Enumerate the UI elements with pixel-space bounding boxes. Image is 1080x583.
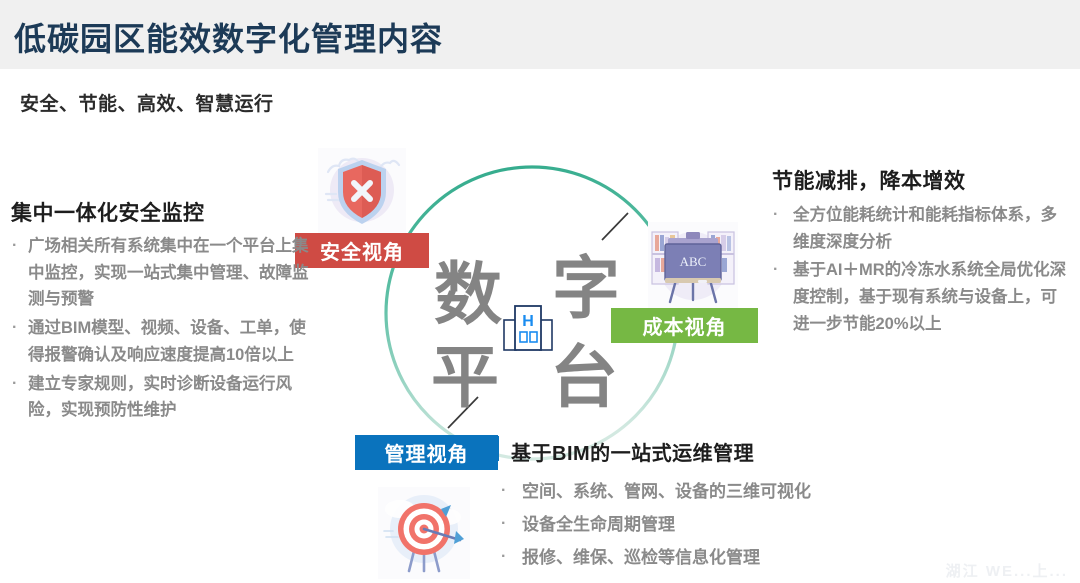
list-item: · 通过BIM模型、视频、设备、工单，使得报警确认及响应速度提高10倍以上 (11, 315, 311, 368)
left-column-bullets: · 广场相关所有系统集中在一个平台上集中监控，实现一站式集中管理、故障监测与预警… (11, 233, 311, 424)
target-arrow-icon (378, 487, 470, 579)
subtitle: 安全、节能、高效、智慧运行 (20, 89, 274, 116)
bullet-dot-icon: · (501, 541, 506, 572)
list-item-text: 建立专家规则，实时诊断设备运行风险，实现预防性维护 (28, 375, 292, 420)
bullet-dot-icon: · (501, 508, 506, 539)
right-column: 节能减排，降本增效 · 全方位能耗统计和能耗指标体系，多维度深度分析 · 基于A… (772, 165, 1072, 340)
platform-char-4: 台 (550, 345, 618, 413)
list-item-text: 通过BIM模型、视频、设备、工单，使得报警确认及响应速度提高10倍以上 (28, 319, 306, 364)
bottom-column-bullets: · 空间、系统、管网、设备的三维可视化 · 设备全生命周期管理 · 报修、维保、… (500, 475, 900, 574)
bullet-dot-icon: · (12, 315, 17, 341)
list-item-text: 设备全生命周期管理 (522, 515, 675, 534)
blackboard-abc-icon: ABC (648, 222, 738, 310)
list-item: · 全方位能耗统计和能耗指标体系，多维度深度分析 (772, 202, 1072, 255)
bullet-dot-icon: · (773, 202, 778, 228)
platform-char-2: 字 (552, 256, 620, 324)
right-column-bullets: · 全方位能耗统计和能耗指标体系，多维度深度分析 · 基于AI＋MR的冷冻水系统… (772, 202, 1072, 338)
building-hospital-icon: H (502, 302, 554, 357)
badge-cost[interactable]: 成本视角 (611, 308, 758, 343)
slide-root: 低碳园区能效数字化管理内容 安全、节能、高效、智慧运行 数 字 平 台 (0, 0, 1080, 583)
page-title: 低碳园区能效数字化管理内容 (14, 14, 443, 60)
shield-x-icon (318, 148, 406, 236)
bottom-column: 基于BIM的一站式运维管理 · 空间、系统、管网、设备的三维可视化 · 设备全生… (500, 437, 900, 574)
list-item-text: 空间、系统、管网、设备的三维可视化 (522, 482, 811, 501)
platform-char-1: 数 (434, 262, 502, 330)
list-item-text: 报修、维保、巡检等信息化管理 (522, 548, 760, 567)
watermark: 湖江 WE...上... (946, 560, 1068, 581)
bullet-dot-icon: · (501, 475, 506, 506)
accent-bar (490, 436, 499, 461)
bullet-dot-icon: · (12, 371, 17, 397)
list-item: · 广场相关所有系统集中在一个平台上集中监控，实现一站式集中管理、故障监测与预警 (11, 233, 311, 313)
list-item: · 基于AI＋MR的冷冻水系统全局优化深度控制，基于现有系统与设备上，可进一步节… (772, 257, 1072, 337)
list-item-text: 基于AI＋MR的冷冻水系统全局优化深度控制，基于现有系统与设备上，可进一步节能2… (793, 261, 1066, 332)
platform-char-3: 平 (431, 345, 499, 413)
building-letter: H (522, 313, 534, 330)
bullet-dot-icon: · (12, 233, 17, 259)
badge-manage[interactable]: 管理视角 (355, 435, 498, 470)
badge-security[interactable]: 安全视角 (295, 233, 429, 268)
list-item: · 建立专家规则，实时诊断设备运行风险，实现预防性维护 (11, 371, 311, 424)
left-column-heading: 集中一体化安全监控 (11, 197, 311, 227)
bottom-column-heading: 基于BIM的一站式运维管理 (500, 437, 900, 466)
list-item-text: 广场相关所有系统集中在一个平台上集中监控，实现一站式集中管理、故障监测与预警 (28, 237, 309, 308)
list-item: · 空间、系统、管网、设备的三维可视化 (500, 475, 900, 508)
list-item-text: 全方位能耗统计和能耗指标体系，多维度深度分析 (793, 206, 1057, 251)
bottom-column-heading-text: 基于BIM的一站式运维管理 (511, 443, 754, 465)
left-column: 集中一体化安全监控 · 广场相关所有系统集中在一个平台上集中监控，实现一站式集中… (11, 197, 311, 426)
bullet-dot-icon: · (773, 257, 778, 283)
list-item: · 设备全生命周期管理 (500, 508, 900, 541)
right-column-heading: 节能减排，降本增效 (772, 165, 1072, 195)
list-item: · 报修、维保、巡检等信息化管理 (500, 541, 900, 574)
blackboard-text: ABC (680, 254, 707, 269)
